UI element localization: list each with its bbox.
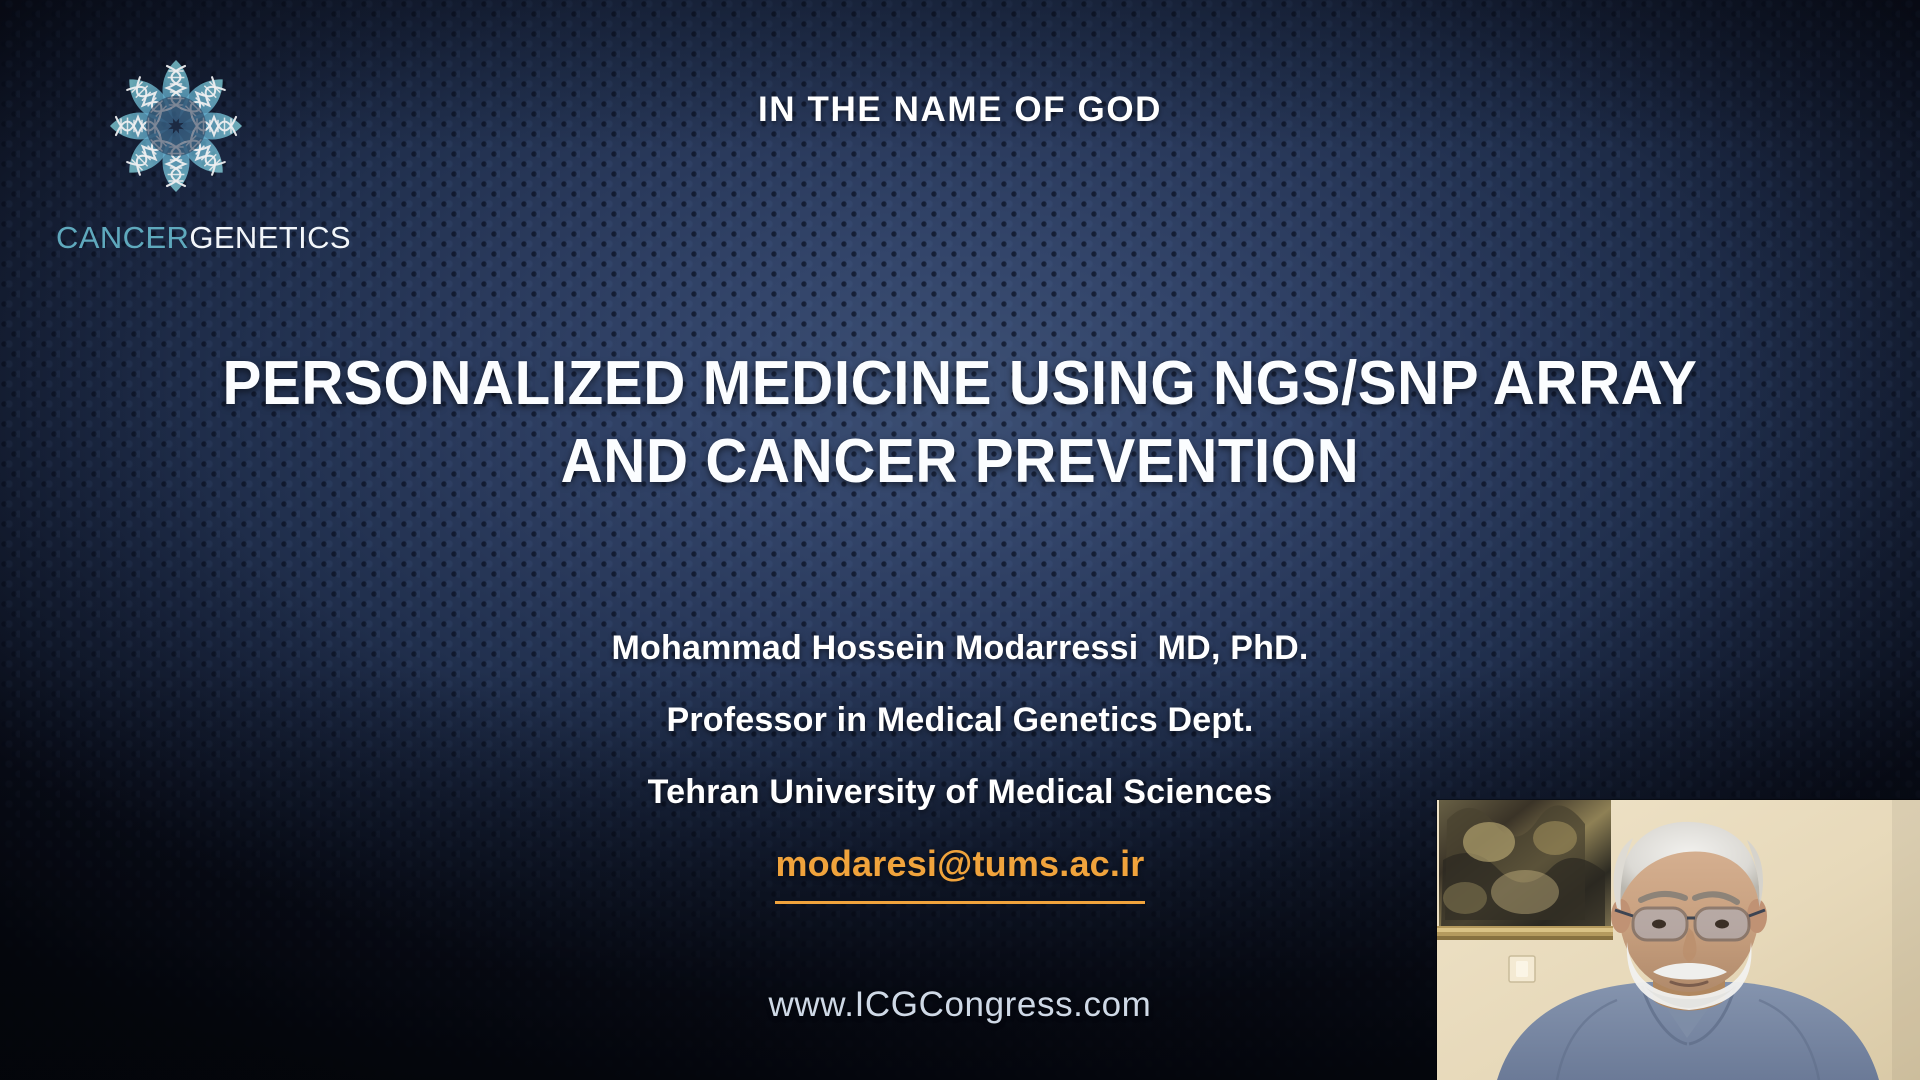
author-email-link[interactable]: modaresi@tums.ac.ir <box>775 828 1144 904</box>
author-position: Professor in Medical Genetics Dept. <box>0 684 1920 756</box>
presenter-video-feed[interactable] <box>1437 800 1920 1080</box>
slide-title: PERSONALIZED MEDICINE USING NGS/SNP ARRA… <box>0 345 1920 501</box>
slide-header-invocation: IN THE NAME OF GOD <box>0 90 1920 130</box>
logo-wordmark-cancer: CANCER <box>56 220 189 255</box>
presentation-slide: CANCERGENETICS IN THE NAME OF GOD PERSON… <box>0 0 1920 1080</box>
cancer-genetics-logo: CANCERGENETICS <box>52 38 352 256</box>
slide-title-line-2: AND CANCER PREVENTION <box>58 423 1863 501</box>
logo-wordmark-genetics: GENETICS <box>189 220 351 255</box>
author-name: Mohammad Hossein Modarressi MD, PhD. <box>0 612 1920 684</box>
logo-wordmark: CANCERGENETICS <box>56 220 352 256</box>
slide-title-line-1: PERSONALIZED MEDICINE USING NGS/SNP ARRA… <box>58 345 1863 423</box>
